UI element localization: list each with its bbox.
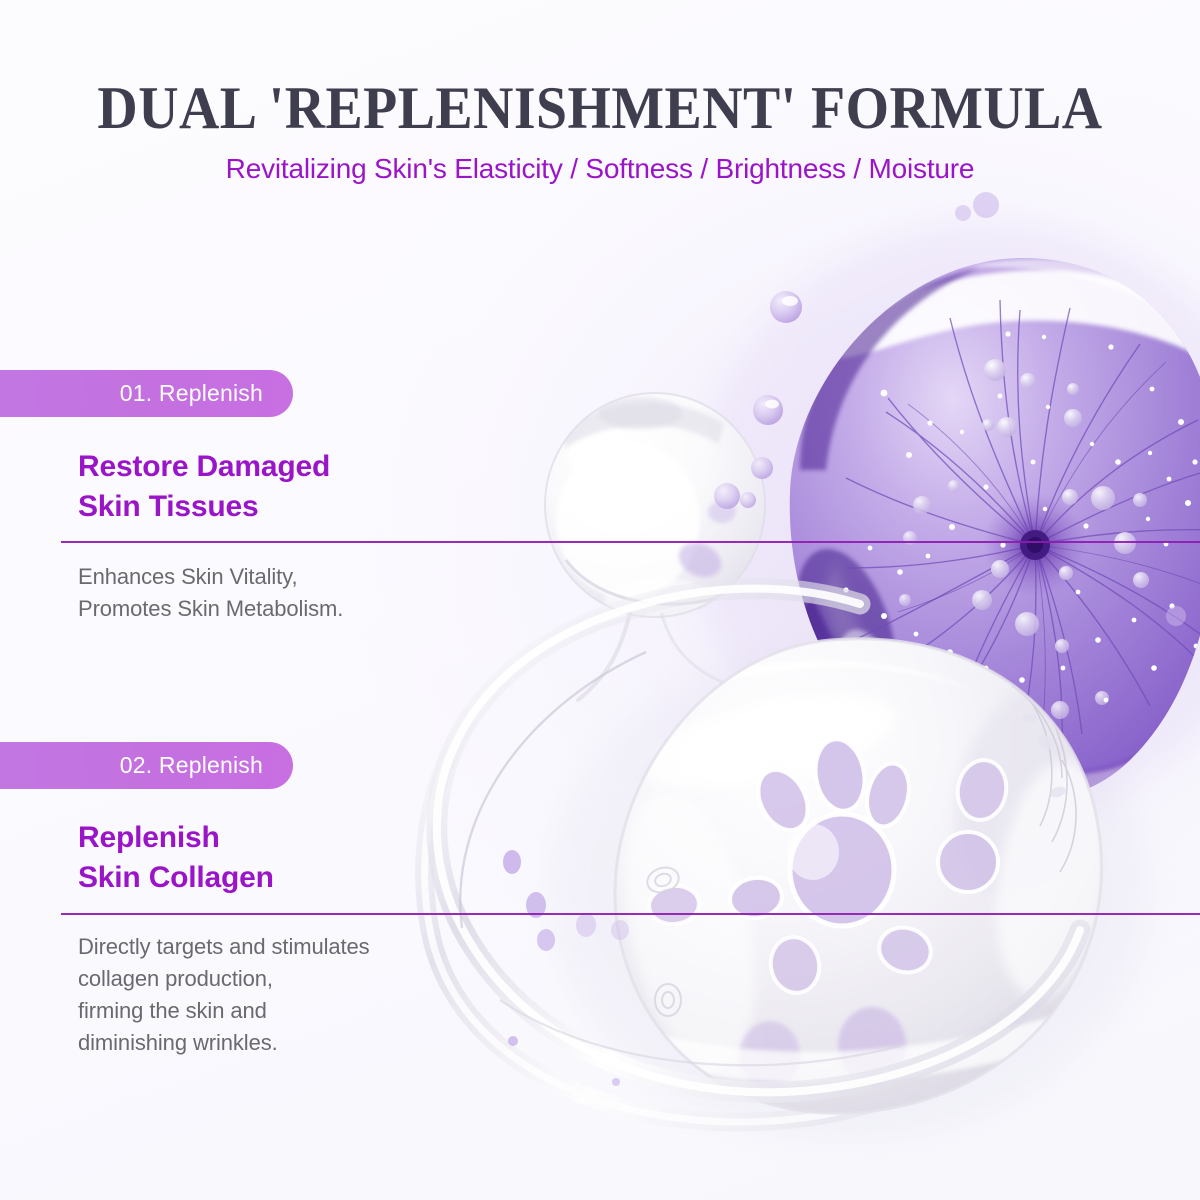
section-badge-02: 02. Replenish	[0, 742, 293, 789]
section-divider-02	[61, 913, 1200, 915]
section-body-01: Enhances Skin Vitality, Promotes Skin Me…	[78, 561, 343, 625]
page-subtitle: Revitalizing Skin's Elasticity / Softnes…	[0, 153, 1200, 185]
product-infographic: DUAL 'REPLENISHMENT' FORMULA Revitalizin…	[0, 0, 1200, 1200]
section-badge-01: 01. Replenish	[0, 370, 293, 417]
section-body-02: Directly targets and stimulates collagen…	[78, 931, 370, 1059]
section-divider-01	[61, 541, 1200, 543]
section-heading-02: Replenish Skin Collagen	[78, 818, 274, 897]
content-layer: DUAL 'REPLENISHMENT' FORMULA Revitalizin…	[0, 0, 1200, 1200]
section-heading-01: Restore Damaged Skin Tissues	[78, 447, 330, 526]
page-title: DUAL 'REPLENISHMENT' FORMULA	[42, 74, 1158, 143]
